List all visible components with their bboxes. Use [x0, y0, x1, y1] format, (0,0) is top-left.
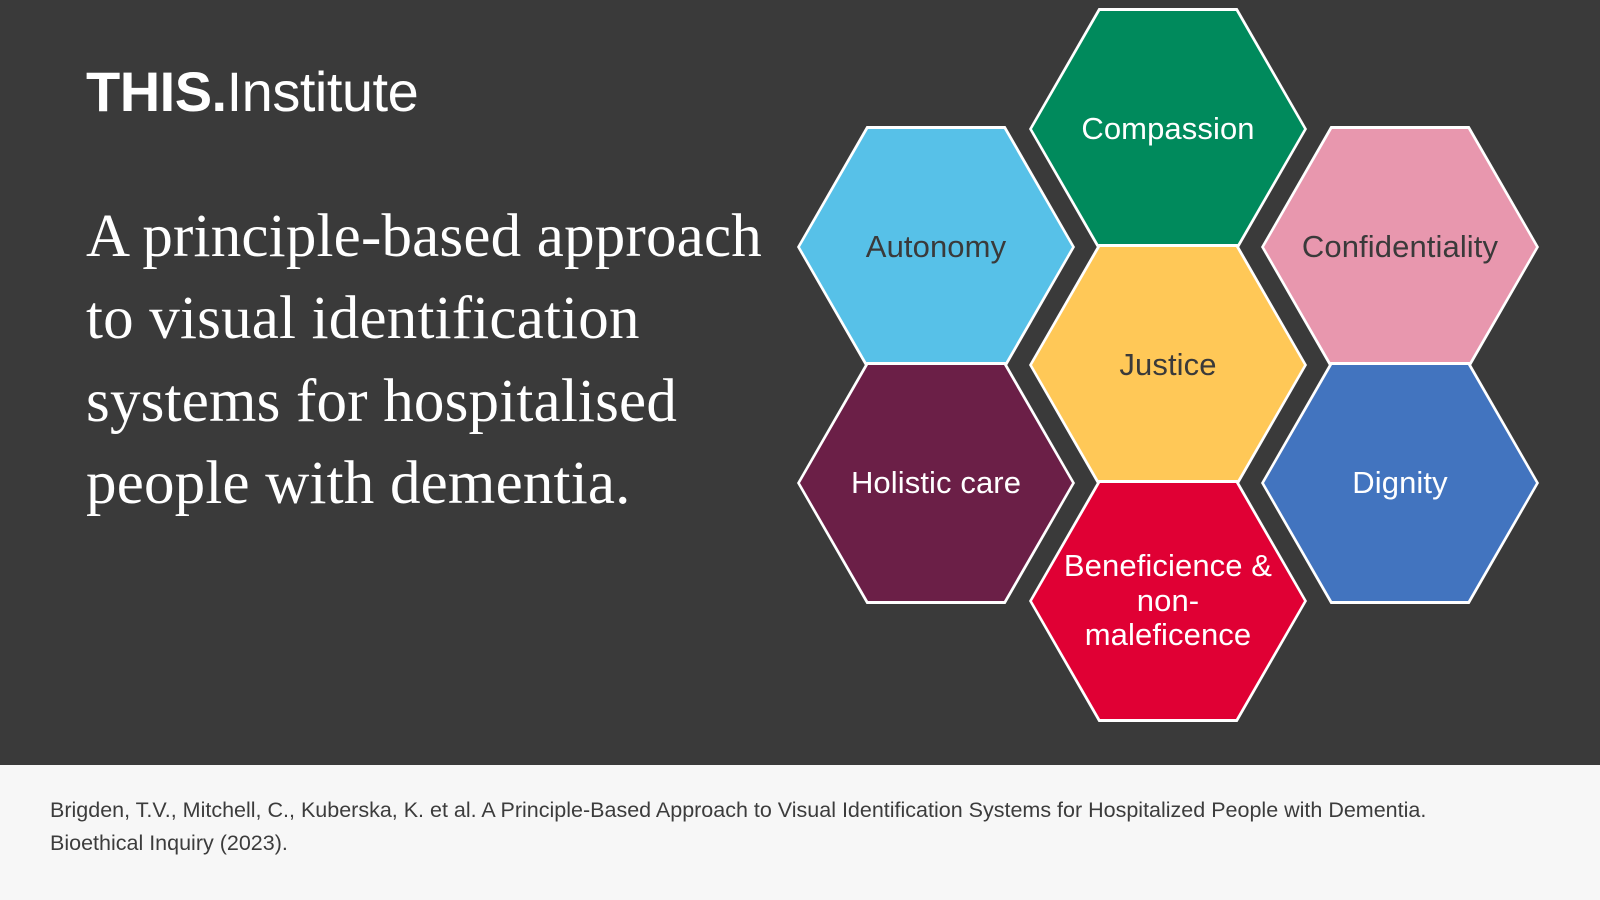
- left-content-column: THIS.Institute A principle-based approac…: [86, 64, 766, 525]
- hexagon-compassion-label: Compassion: [1055, 112, 1280, 147]
- hexagon-autonomy[interactable]: Autonomy: [797, 126, 1075, 368]
- hexagon-beneficience-non-maleficence-fill: Beneficience & non-maleficence: [1032, 483, 1304, 719]
- hexagon-dignity-fill: Dignity: [1264, 365, 1536, 601]
- hexagon-dignity-label: Dignity: [1326, 466, 1473, 501]
- dark-stage: THIS.Institute A principle-based approac…: [0, 0, 1600, 765]
- logo-strong-text: THIS.: [86, 60, 227, 123]
- hexagon-compassion[interactable]: Compassion: [1029, 8, 1307, 250]
- logo-light-text: Institute: [227, 60, 419, 123]
- page-title: A principle-based approach to visual ide…: [86, 196, 766, 525]
- hexagon-confidentiality-label: Confidentiality: [1288, 230, 1512, 265]
- hexagon-justice-fill: Justice: [1032, 247, 1304, 483]
- footer-bar: Brigden, T.V., Mitchell, C., Kuberska, K…: [0, 765, 1600, 900]
- hexagon-justice[interactable]: Justice: [1029, 244, 1307, 486]
- hexagon-autonomy-label: Autonomy: [840, 230, 1032, 265]
- hexagon-justice-label: Justice: [1093, 348, 1242, 383]
- hexagon-holistic-care-label: Holistic care: [833, 466, 1039, 501]
- slide-root: THIS.Institute A principle-based approac…: [0, 0, 1600, 900]
- hexagon-confidentiality[interactable]: Confidentiality: [1261, 126, 1539, 368]
- hexagon-beneficience-non-maleficence[interactable]: Beneficience & non-maleficence: [1029, 480, 1307, 722]
- hexagon-compassion-fill: Compassion: [1032, 11, 1304, 247]
- hexagon-holistic-care-fill: Holistic care: [800, 365, 1072, 601]
- this-institute-logo: THIS.Institute: [86, 64, 766, 120]
- hexagon-holistic-care[interactable]: Holistic care: [797, 362, 1075, 604]
- citation-text: Brigden, T.V., Mitchell, C., Kuberska, K…: [50, 794, 1470, 859]
- hexagon-dignity[interactable]: Dignity: [1261, 362, 1539, 604]
- principles-honeycomb-diagram: Autonomy Compassion Confidentiality Just…: [770, 0, 1490, 765]
- hexagon-confidentiality-fill: Confidentiality: [1264, 129, 1536, 365]
- hexagon-autonomy-fill: Autonomy: [800, 129, 1072, 365]
- hexagon-beneficience-non-maleficence-label: Beneficience & non-maleficence: [1032, 549, 1304, 653]
